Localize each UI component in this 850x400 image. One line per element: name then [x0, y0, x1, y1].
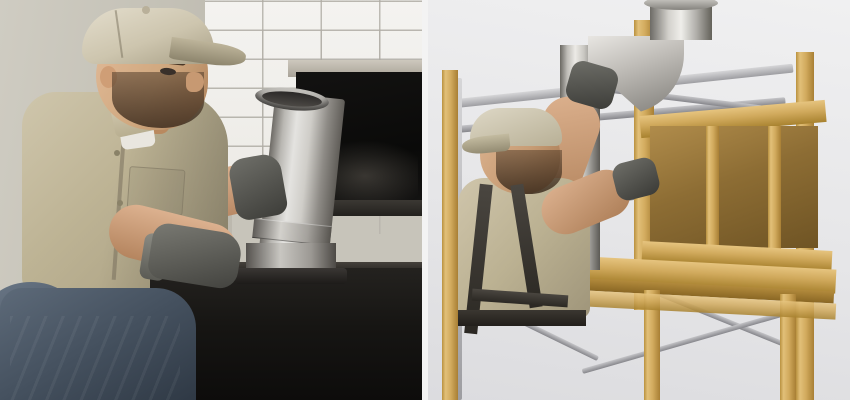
plywood-sheathing [650, 126, 818, 248]
timber-stud [768, 126, 781, 250]
jeans-folds [10, 316, 180, 400]
flue-pipe-collar [235, 268, 347, 284]
cap-button [142, 6, 150, 14]
timber-stud [706, 126, 719, 250]
chimney-installation-photo [428, 0, 850, 400]
worker-beard [496, 150, 562, 194]
shirt-button [114, 150, 120, 156]
fireplace-installation-photo [0, 0, 422, 400]
service-banner: Fireplace Conversion Services Windsor Pa… [0, 0, 850, 400]
worker-jeans [454, 320, 586, 400]
worker-nose [186, 72, 204, 92]
shirt-button [117, 200, 123, 206]
image-panels [0, 0, 850, 400]
